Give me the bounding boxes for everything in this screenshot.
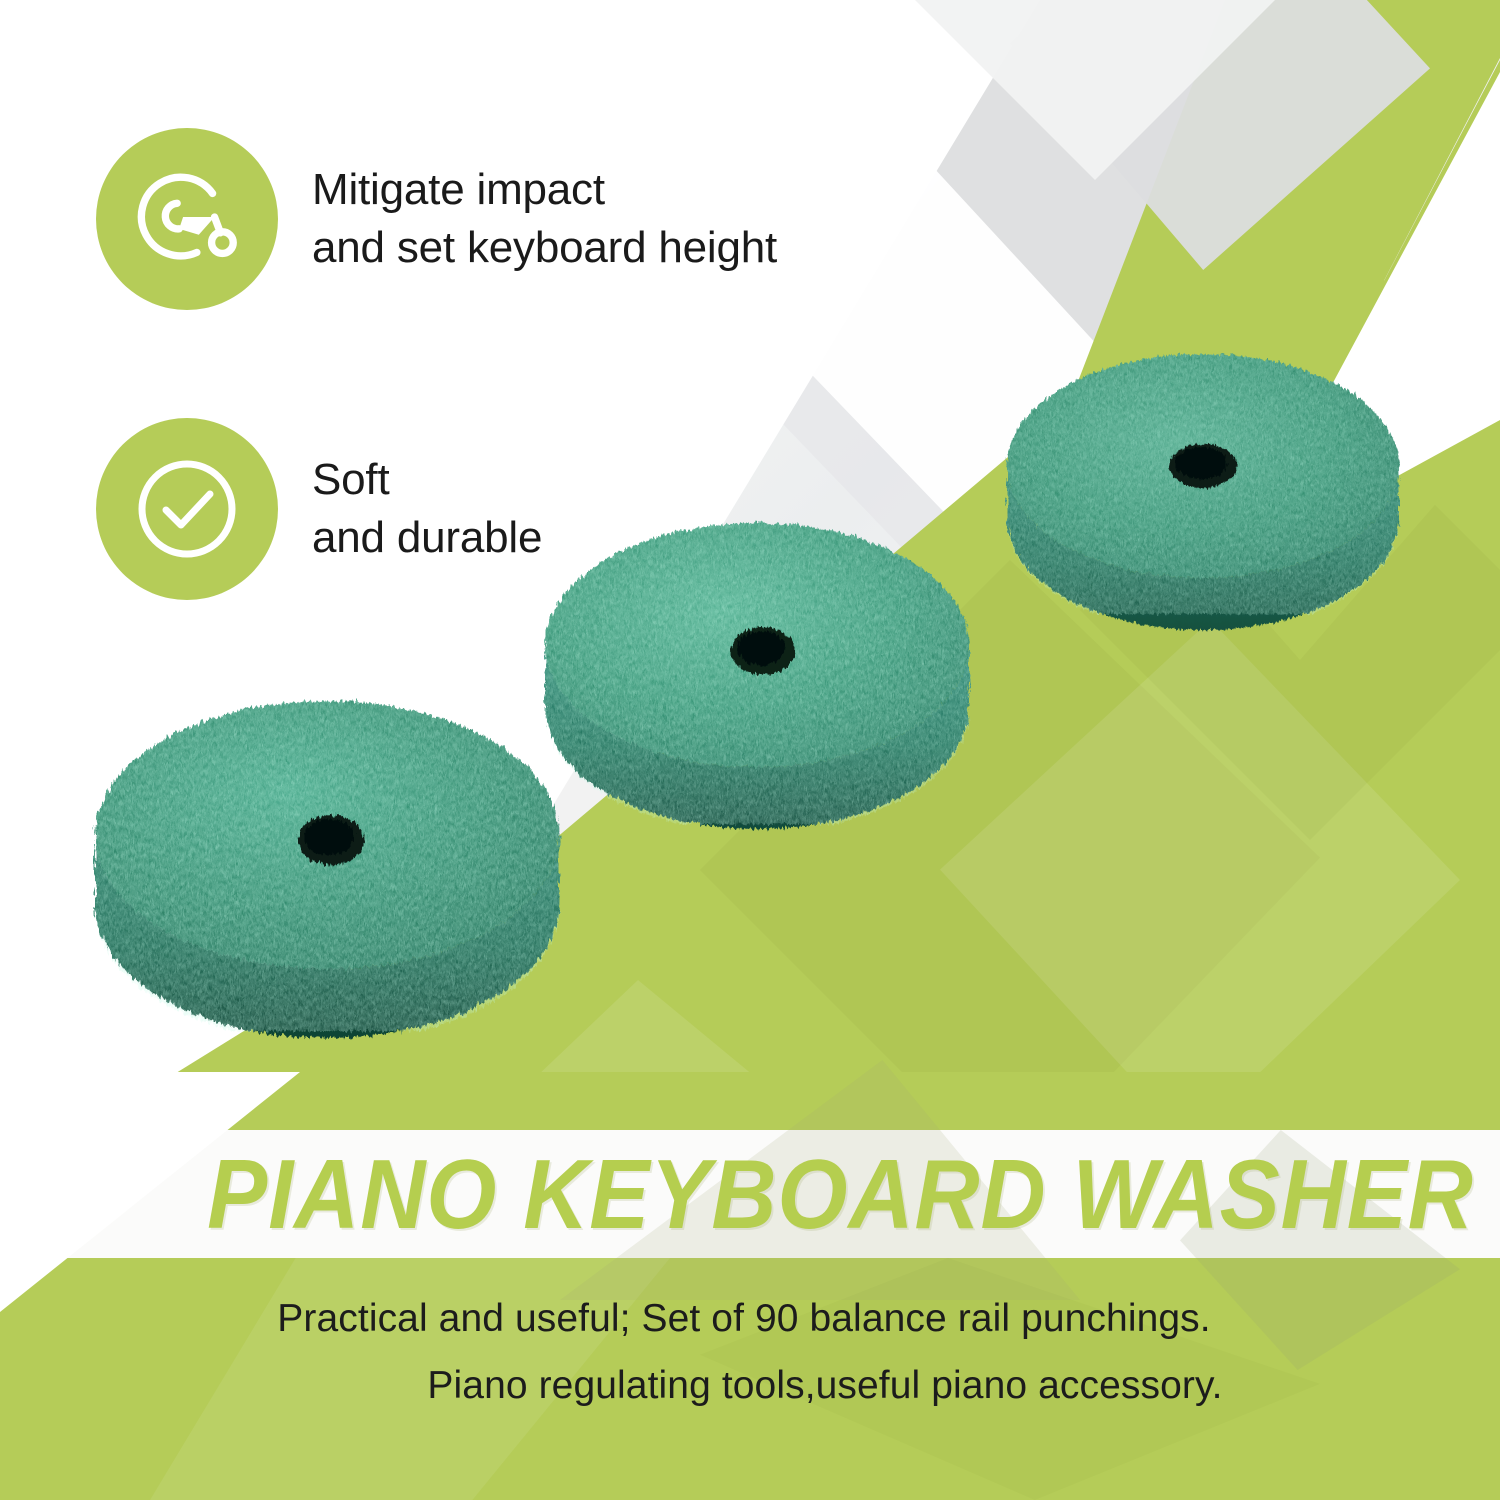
washer-illustration	[535, 505, 990, 855]
headline-text: PIANO KEYBOARD WASHER	[207, 1138, 1474, 1251]
feature-badge	[96, 128, 278, 310]
washer-back-right	[995, 338, 1415, 658]
washer-center	[535, 505, 990, 855]
washer-front-left	[85, 680, 585, 1070]
feature-label: Mitigate impact and set keyboard height	[312, 161, 777, 277]
feature-badge	[96, 418, 278, 600]
washer-illustration	[85, 680, 585, 1070]
caption-line-1: Practical and useful; Set of 90 balance …	[0, 1285, 1500, 1352]
product-headline: PIANO KEYBOARD WASHER	[0, 1133, 1500, 1255]
gauge-impact-icon	[128, 160, 246, 278]
product-caption: Practical and useful; Set of 90 balance …	[0, 1285, 1500, 1419]
check-circle-icon	[126, 448, 248, 570]
product-infographic: Mitigate impact and set keyboard height …	[0, 0, 1500, 1500]
washer-illustration	[995, 338, 1415, 658]
feature-item-soft-durable[interactable]: Soft and durable	[96, 418, 542, 600]
feature-item-mitigate-impact[interactable]: Mitigate impact and set keyboard height	[96, 128, 777, 310]
feature-label: Soft and durable	[312, 451, 542, 567]
caption-line-2: Piano regulating tools,useful piano acce…	[0, 1352, 1500, 1419]
